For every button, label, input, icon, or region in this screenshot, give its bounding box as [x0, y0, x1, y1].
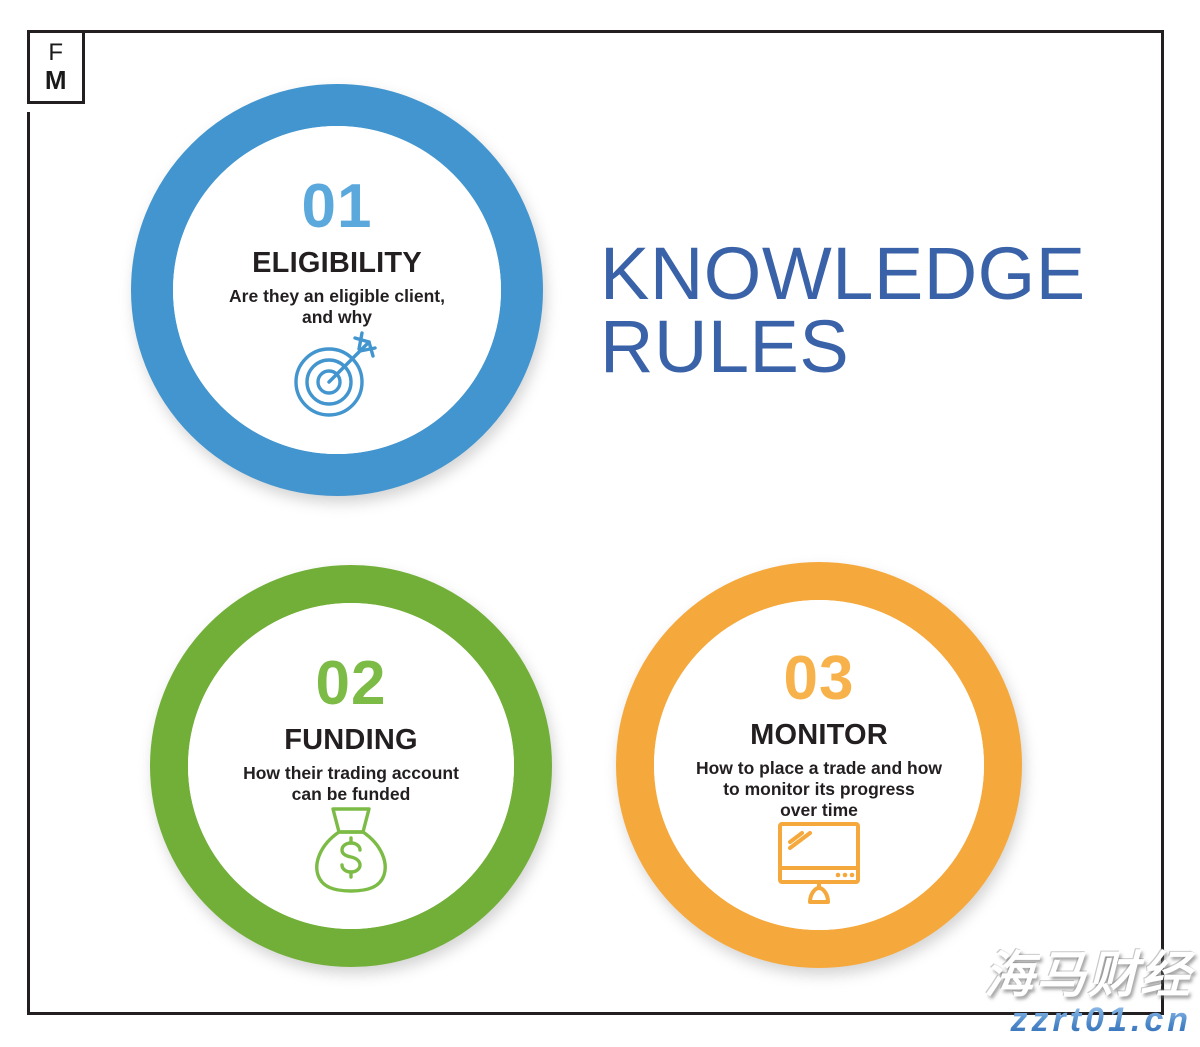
- money-bag-icon: [308, 805, 394, 900]
- frame-top-line: [82, 30, 1164, 33]
- card-description-line: and why: [229, 307, 445, 328]
- frame-right-line: [1161, 30, 1164, 1015]
- card-monitor: 03 MONITOR How to place a trade and how …: [616, 562, 1022, 968]
- page-title-line-1: KNOWLEDGE: [600, 238, 1120, 311]
- frame-left-line: [27, 112, 30, 1015]
- card-number: 01: [302, 176, 373, 238]
- card-number: 03: [784, 648, 855, 710]
- card-title: ELIGIBILITY: [252, 248, 422, 278]
- watermark: 海马财经 zzrt01.cn: [984, 950, 1192, 1039]
- page-title: KNOWLEDGE RULES: [600, 238, 1120, 383]
- card-description-line: How their trading account: [243, 763, 459, 784]
- fm-logo: F M: [27, 30, 85, 104]
- watermark-url: zzrt01.cn: [984, 1002, 1192, 1039]
- fm-logo-letter-m: M: [45, 67, 67, 93]
- card-description-line: How to place a trade and how: [696, 758, 942, 779]
- card-funding-content: 02 FUNDING How their trading account can…: [188, 603, 514, 929]
- card-description: How to place a trade and how to monitor …: [696, 758, 942, 820]
- desktop-monitor-icon: [766, 820, 872, 911]
- card-monitor-content: 03 MONITOR How to place a trade and how …: [654, 600, 984, 930]
- card-title: MONITOR: [750, 720, 888, 750]
- fm-logo-letter-f: F: [48, 41, 63, 65]
- card-description-line: over time: [696, 800, 942, 821]
- card-description-line: can be funded: [243, 784, 459, 805]
- target-arrow-icon: [289, 328, 385, 425]
- infographic-canvas: F M KNOWLEDGE RULES 01 ELIGIBILITY Are t…: [0, 0, 1200, 1047]
- card-description-line: Are they an eligible client,: [229, 286, 445, 307]
- card-description: Are they an eligible client, and why: [229, 286, 445, 327]
- page-title-line-2: RULES: [600, 311, 1120, 384]
- card-description: How their trading account can be funded: [243, 763, 459, 804]
- watermark-brand: 海马财经: [984, 950, 1192, 1000]
- card-funding: 02 FUNDING How their trading account can…: [150, 565, 552, 967]
- card-number: 02: [316, 653, 387, 715]
- card-eligibility: 01 ELIGIBILITY Are they an eligible clie…: [131, 84, 543, 496]
- card-title: FUNDING: [284, 725, 418, 755]
- card-description-line: to monitor its progress: [696, 779, 942, 800]
- card-eligibility-content: 01 ELIGIBILITY Are they an eligible clie…: [173, 126, 501, 454]
